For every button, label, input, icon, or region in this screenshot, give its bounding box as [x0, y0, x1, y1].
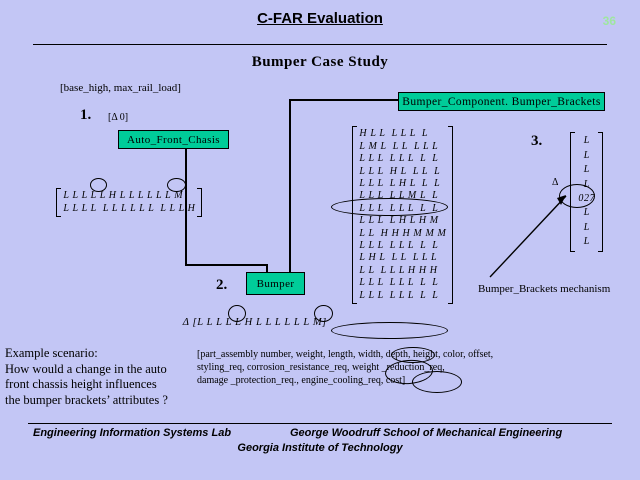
- mechanism-label: Bumper_Brackets mechanism: [478, 283, 610, 295]
- footer-left: Engineering Information Systems Lab: [33, 427, 231, 439]
- scenario-line: Example scenario:: [5, 346, 168, 362]
- attributes-line: damage _protection_req., engine_cooling_…: [197, 374, 637, 387]
- footer-right: George Woodruff School of Mechanical Eng…: [290, 427, 562, 439]
- attributes-line: styling_req, corrosion_resistance_req, w…: [197, 361, 637, 374]
- scenario-line: How would a change in the auto: [5, 362, 168, 378]
- arrow-to-027: [0, 0, 640, 480]
- scenario-line: the bumper brackets’ attributes ?: [5, 393, 168, 409]
- attributes-line: [part_assembly number, weight, length, w…: [197, 348, 637, 361]
- slide-canvas: C-FAR Evaluation 36 Bumper Case Study [b…: [0, 0, 640, 480]
- footer-center: Georgia Institute of Technology: [0, 442, 640, 454]
- footer-divider: [28, 423, 612, 424]
- attributes-list: [part_assembly number, weight, length, w…: [197, 348, 637, 387]
- scenario-text: Example scenario: How would a change in …: [5, 346, 168, 408]
- scenario-line: front chassis height influences: [5, 377, 168, 393]
